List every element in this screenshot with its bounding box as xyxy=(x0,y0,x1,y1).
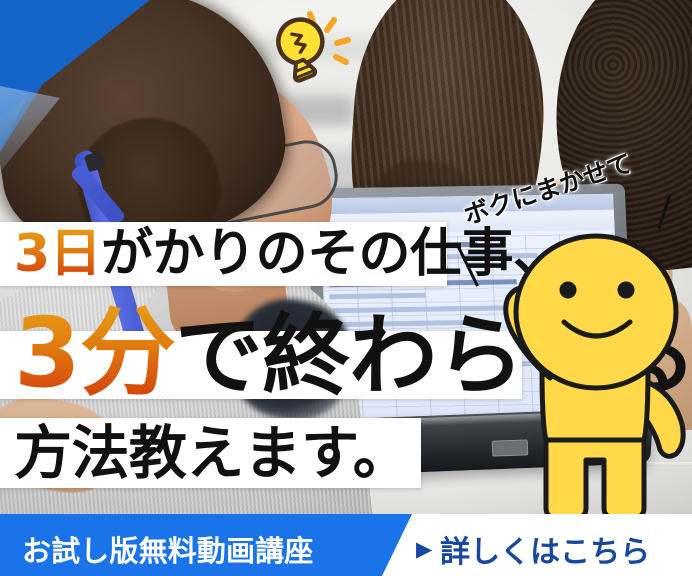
cta-details-link[interactable]: ▶ 詳しくはこちら xyxy=(416,527,650,571)
headline-line-3: 方法教えます。 xyxy=(14,424,410,482)
ad-banner[interactable]: 3日がかりのその仕事、 3分で終わらせる 方法教えます。 ボクにまかせて xyxy=(0,0,692,576)
headline-line-3-text: 方法教えます。 xyxy=(14,419,410,487)
blue-corner-wedge xyxy=(0,0,150,150)
cta-details-link-label: 詳しくはこちら xyxy=(440,527,650,571)
headline-accent-3minutes: 3分 xyxy=(14,297,175,409)
headline-line-1: 3日がかりのその仕事、 xyxy=(14,228,564,280)
cta-primary-label: お試し版無料動画講座 xyxy=(22,528,313,570)
play-arrow-icon: ▶ xyxy=(416,539,432,560)
cta-bar[interactable]: お試し版無料動画講座 ▶ 詳しくはこちら xyxy=(0,514,692,576)
headline-accent-3days: 3日 xyxy=(14,224,101,284)
yellow-mascot-character xyxy=(486,228,692,520)
lightbulb-icon xyxy=(258,6,356,86)
